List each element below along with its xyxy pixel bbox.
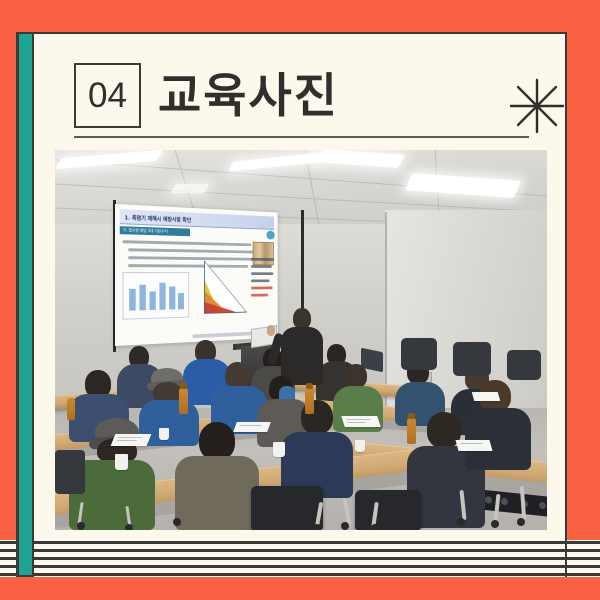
teal-accent-bar xyxy=(17,32,34,576)
handout xyxy=(341,416,381,427)
beverage-bottle xyxy=(305,388,314,414)
paper-cup xyxy=(159,428,169,440)
stripe xyxy=(0,549,600,552)
ceiling-light xyxy=(170,184,209,193)
poster-root: 04 교육사진 xyxy=(0,0,600,600)
slide-subtitle: 가. 열사병 예방 3대 기본수칙 xyxy=(120,226,190,236)
slide-badge xyxy=(266,231,274,240)
bottle-cap xyxy=(408,413,415,419)
handout xyxy=(233,422,271,432)
beverage-bottle xyxy=(179,388,188,414)
education-photo: 1. 폭염기 재해시 예방사항 확인 가. 열사병 예방 3대 기본수칙 xyxy=(55,150,547,530)
stripe xyxy=(0,541,600,544)
sparkle-icon xyxy=(505,74,567,138)
handout xyxy=(111,434,152,446)
paper-cup xyxy=(273,442,285,457)
projection-screen: 1. 폭염기 재해시 예방사항 확인 가. 열사병 예방 3대 기본수칙 xyxy=(115,204,278,346)
paper-cup xyxy=(115,454,128,470)
section-number: 04 xyxy=(88,78,127,113)
poster-header: 04 교육사진 xyxy=(18,34,567,144)
handout xyxy=(472,392,501,401)
office-chair xyxy=(401,338,437,370)
beverage-bottle xyxy=(407,418,416,444)
presentation-slide: 1. 폭염기 재해시 예방사항 확인 가. 열사병 예방 3대 기본수칙 xyxy=(115,204,278,346)
stripe xyxy=(0,557,600,560)
handout xyxy=(455,440,492,451)
stripe xyxy=(0,565,600,568)
slide-bar-chart xyxy=(123,272,190,320)
office-chair xyxy=(355,490,421,530)
office-chair xyxy=(251,486,323,530)
paper-cup xyxy=(355,440,365,452)
page-title: 교육사진 xyxy=(158,66,339,128)
slide-risk-triangle-chart xyxy=(201,255,250,317)
office-chair xyxy=(507,350,541,380)
bottle-cap xyxy=(180,383,187,389)
slide-legend xyxy=(251,256,275,310)
stripe xyxy=(0,573,600,576)
beverage-bottle xyxy=(67,398,75,420)
office-chair xyxy=(55,450,85,494)
bottom-stripe-decor xyxy=(0,540,600,577)
teal-accent-bar-bottom xyxy=(17,540,34,577)
section-number-box: 04 xyxy=(74,63,141,128)
content-card: 04 교육사진 xyxy=(16,32,567,576)
title-underline xyxy=(74,136,529,138)
bottle-cap xyxy=(306,383,313,389)
office-chair xyxy=(453,342,491,376)
